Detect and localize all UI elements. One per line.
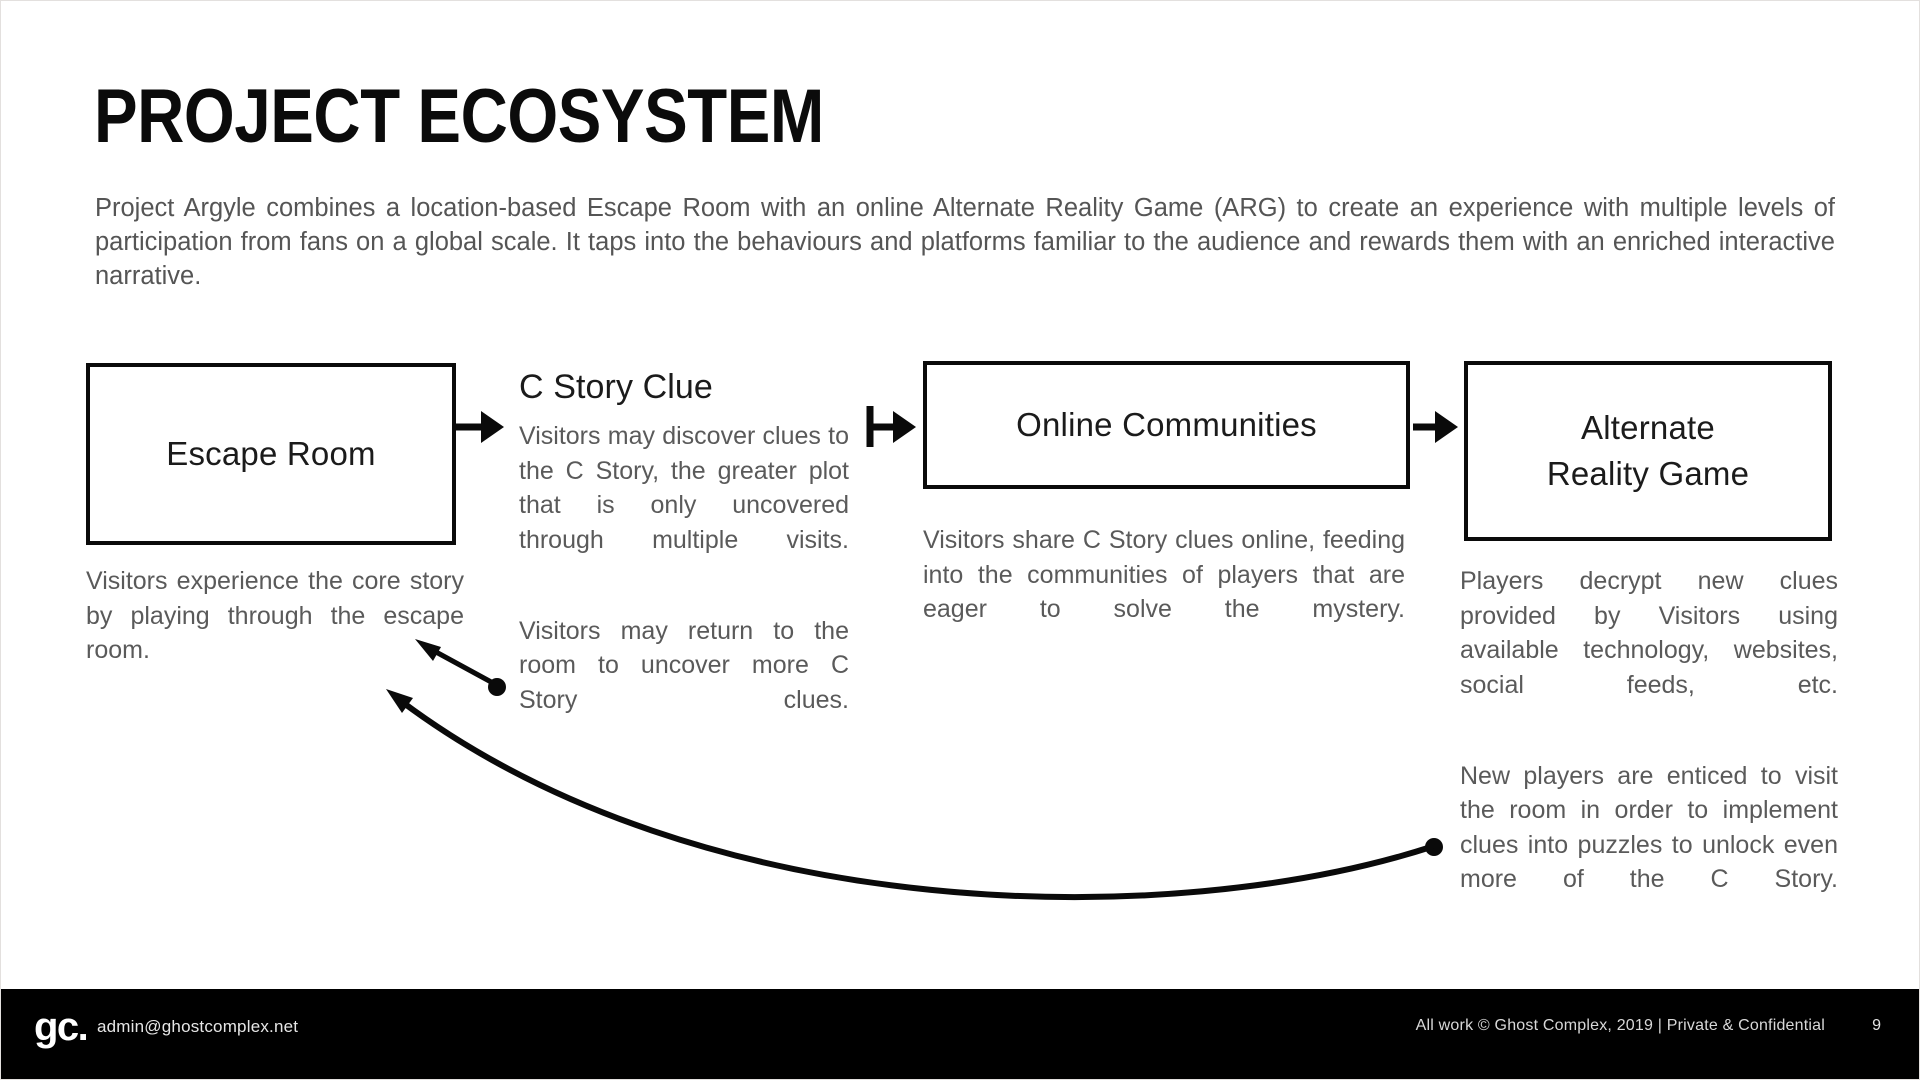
brand-logo: gc. xyxy=(34,1007,87,1047)
caption-arg-paragraph-2: New players are enticed to visit the roo… xyxy=(1460,759,1838,932)
caption-c-story-clue: Visitors may discover clues to the C Sto… xyxy=(519,419,849,752)
caption-alternate-reality-game: Players decrypt new clues provided by Vi… xyxy=(1460,564,1838,931)
slide-canvas: PROJECT ECOSYSTEM Project Argyle combine… xyxy=(0,0,1920,1080)
caption-c-story-paragraph-1: Visitors may discover clues to the C Sto… xyxy=(519,419,849,592)
intro-paragraph: Project Argyle combines a location-based… xyxy=(95,191,1835,327)
footer-email[interactable]: admin@ghostcomplex.net xyxy=(97,1017,298,1037)
node-online-communities[interactable]: Online Communities xyxy=(923,361,1410,489)
node-arg-label-line-2: Reality Game xyxy=(1547,455,1749,492)
node-online-communities-label: Online Communities xyxy=(1016,402,1317,448)
caption-arg-paragraph-1: Players decrypt new clues provided by Vi… xyxy=(1460,564,1838,737)
footer-copyright: All work © Ghost Complex, 2019 | Private… xyxy=(1416,1017,1825,1035)
node-alternate-reality-game[interactable]: Alternate Reality Game xyxy=(1464,361,1832,541)
footer-bar: gc. admin@ghostcomplex.net All work © Gh… xyxy=(1,989,1920,1080)
page-title: PROJECT ECOSYSTEM xyxy=(94,79,824,155)
caption-escape-room: Visitors experience the core story by pl… xyxy=(86,564,464,702)
node-arg-label-wrapper: Alternate Reality Game xyxy=(1547,405,1749,497)
connector-online-communities-to-arg-icon xyxy=(1413,411,1458,443)
caption-escape-room-text: Visitors experience the core story by pl… xyxy=(86,564,464,702)
caption-online-communities: Visitors share C Story clues online, fee… xyxy=(923,523,1405,661)
footer-page-number: 9 xyxy=(1872,1017,1881,1035)
node-escape-room[interactable]: Escape Room xyxy=(86,363,456,545)
node-arg-label-line-1: Alternate xyxy=(1581,409,1715,446)
node-escape-room-label: Escape Room xyxy=(166,431,375,477)
caption-c-story-paragraph-2: Visitors may return to the room to uncov… xyxy=(519,614,849,752)
caption-online-communities-text: Visitors share C Story clues online, fee… xyxy=(923,523,1405,661)
connector-escape-room-to-c-story-icon xyxy=(456,411,504,443)
connector-c-story-to-online-communities-icon xyxy=(870,406,916,447)
heading-c-story-clue: C Story Clue xyxy=(519,368,713,407)
